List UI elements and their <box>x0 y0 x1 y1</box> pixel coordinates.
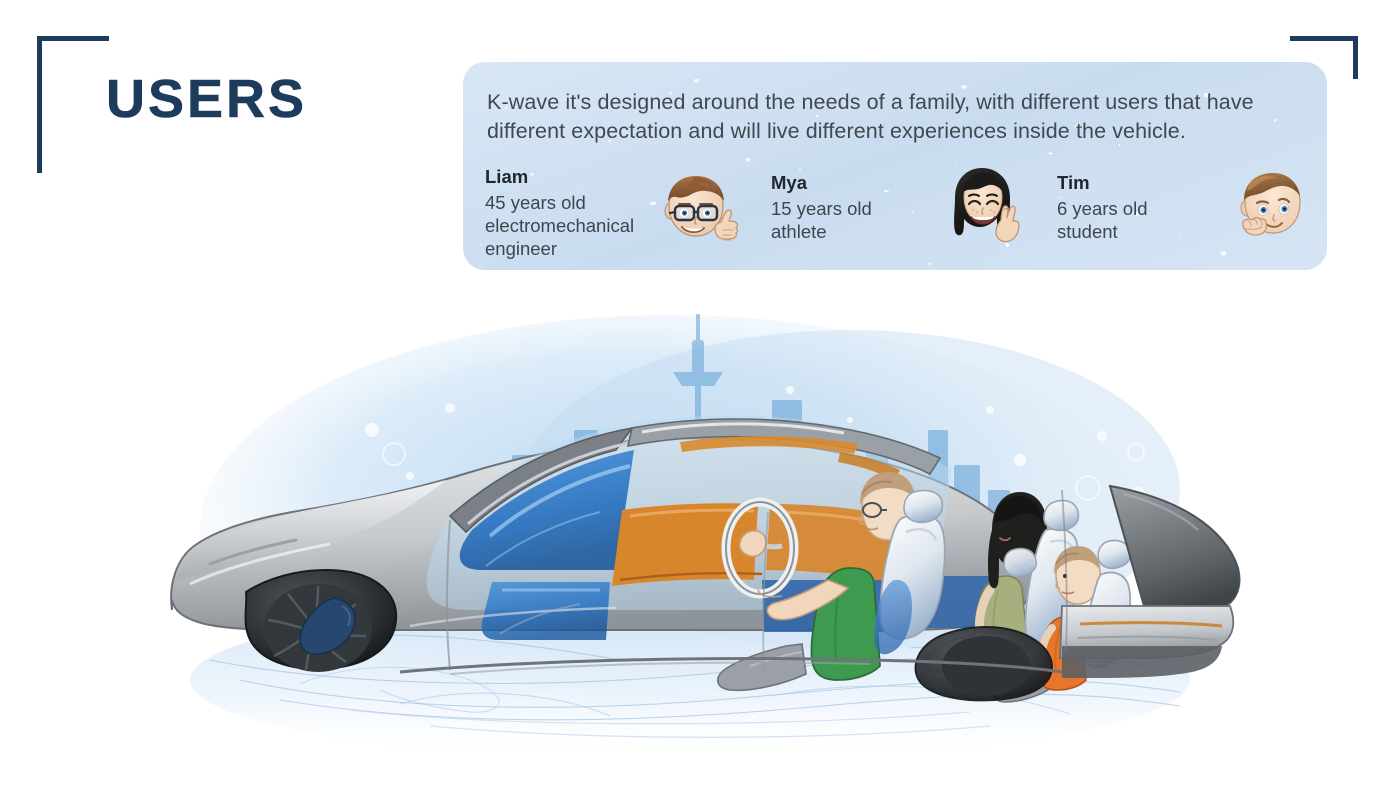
info-panel: K-wave it's designed around the needs of… <box>463 62 1327 270</box>
persona-name-mya: Mya <box>771 172 951 194</box>
persona-details-liam: 45 years old electromechanical engineer <box>485 191 665 260</box>
persona-card-mya[interactable]: Mya 15 years old athlete <box>771 162 1057 262</box>
persona-text-tim: Tim 6 years old student <box>1057 162 1237 243</box>
corner-bracket-top-left-horizontal <box>37 36 109 41</box>
memoji-woman-black-hair-fingers-crossed-icon <box>935 158 1031 254</box>
persona-row: Liam 45 years old electromechanical engi… <box>485 162 1305 262</box>
slide-root: USERS K-wave it's designed around the ne… <box>0 0 1400 788</box>
page-title: USERS <box>106 72 307 126</box>
persona-text-liam: Liam 45 years old electromechanical engi… <box>485 162 665 260</box>
corner-bracket-top-right-horizontal <box>1290 36 1358 41</box>
persona-details-mya: 15 years old athlete <box>771 197 951 243</box>
corner-bracket-top-left-vertical <box>37 36 42 173</box>
persona-details-tim: 6 years old student <box>1057 197 1237 243</box>
persona-name-liam: Liam <box>485 166 665 188</box>
k-wave-concept-vehicle-sketch <box>150 280 1270 780</box>
persona-text-mya: Mya 15 years old athlete <box>771 162 951 243</box>
persona-card-liam[interactable]: Liam 45 years old electromechanical engi… <box>485 162 771 262</box>
memoji-boy-hand-on-chin-icon <box>1221 158 1317 254</box>
persona-card-tim[interactable]: Tim 6 years old student <box>1057 162 1327 262</box>
memoji-man-glasses-thumbs-up-icon <box>649 164 745 260</box>
corner-bracket-top-right-vertical <box>1353 36 1358 79</box>
persona-name-tim: Tim <box>1057 172 1237 194</box>
panel-description: K-wave it's designed around the needs of… <box>487 88 1311 146</box>
